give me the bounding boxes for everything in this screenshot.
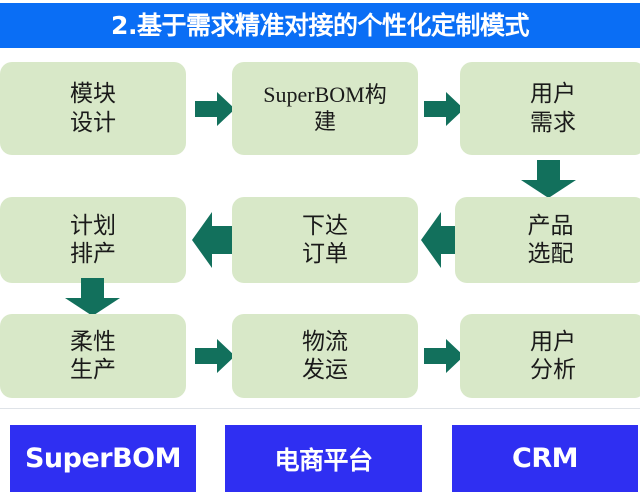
process-box-line-1: 柔性 <box>70 328 116 356</box>
system-box-crm[interactable]: CRM <box>452 425 638 492</box>
process-box-line-1: 产品 <box>528 212 574 240</box>
process-box-place-order[interactable]: 下达 订单 <box>232 197 418 283</box>
process-box-line-1: 物流 <box>302 328 348 356</box>
process-box-line-2: 排产 <box>70 240 116 268</box>
arrow-down-icon <box>521 160 576 198</box>
arrow-left-icon <box>192 212 236 268</box>
process-box-line-2: 选配 <box>528 240 574 268</box>
process-box-plan-production[interactable]: 计划 排产 <box>0 197 186 283</box>
process-box-line-1: 用户 <box>530 80 576 108</box>
process-box-user-analysis[interactable]: 用户 分析 <box>460 314 640 398</box>
arrow-down-icon <box>65 278 120 316</box>
arrow-right-icon <box>424 339 464 373</box>
process-box-line-2: 设计 <box>70 109 116 137</box>
process-box-line-1: 用户 <box>530 328 576 356</box>
process-box-product-config[interactable]: 产品 选配 <box>455 197 640 283</box>
process-box-line-1: 下达 <box>302 212 348 240</box>
process-box-line-1: 模块 <box>70 80 116 108</box>
system-box-label: CRM <box>512 443 578 474</box>
system-box-superbom[interactable]: SuperBOM <box>10 425 196 492</box>
system-box-label: SuperBOM <box>25 443 181 474</box>
arrow-right-icon <box>195 339 235 373</box>
process-box-line-2: 分析 <box>530 356 576 384</box>
arrow-right-icon <box>195 92 235 126</box>
process-box-flexible-manufacturing[interactable]: 柔性 生产 <box>0 314 186 398</box>
process-box-line-1: 计划 <box>70 212 116 240</box>
process-box-line-1: SuperBOM构 <box>263 82 386 109</box>
process-box-line-2: 发运 <box>302 356 348 384</box>
process-box-line-2: 生产 <box>70 356 116 384</box>
process-box-user-demand[interactable]: 用户 需求 <box>460 62 640 155</box>
page-title: 2.基于需求精准对接的个性化定制模式 <box>111 13 529 38</box>
header-banner: 2.基于需求精准对接的个性化定制模式 <box>0 3 640 48</box>
diagram-canvas: 2.基于需求精准对接的个性化定制模式 模块 设计 SuperBOM构 建 用户 … <box>0 0 640 492</box>
system-box-label: 电商平台 <box>274 441 372 477</box>
process-box-line-2: 订单 <box>302 240 348 268</box>
process-box-superbom-build[interactable]: SuperBOM构 建 <box>232 62 418 155</box>
process-box-logistics-shipping[interactable]: 物流 发运 <box>232 314 418 398</box>
process-box-module-design[interactable]: 模块 设计 <box>0 62 186 155</box>
system-box-ecommerce-platform[interactable]: 电商平台 <box>225 425 422 492</box>
process-box-line-2: 建 <box>314 109 336 136</box>
section-divider <box>0 408 640 409</box>
process-box-line-2: 需求 <box>530 109 576 137</box>
arrow-right-icon <box>424 92 464 126</box>
